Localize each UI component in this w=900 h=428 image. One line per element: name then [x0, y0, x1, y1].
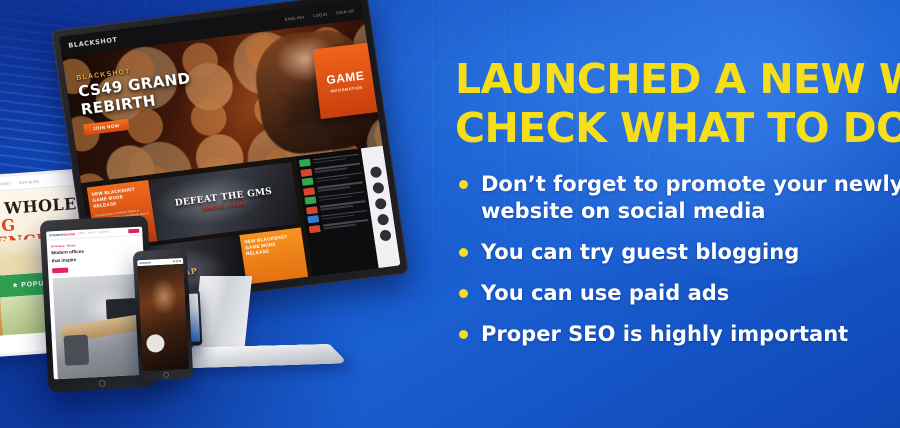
news-card1-overlay: DEFEAT THE GMS SPECIAL EVENT — [174, 187, 274, 216]
list-item-line-1: You can try guest blogging — [481, 240, 799, 264]
tablet-office-photo — [53, 274, 147, 380]
star-icon: ★ — [12, 281, 19, 289]
list-item: You can use paid ads — [455, 280, 900, 307]
bullet-icon — [459, 289, 468, 298]
device-mockup-group: HOME THE MENU COOKING CLASSES OUR BLOG L… — [0, 0, 450, 428]
home-button[interactable] — [98, 380, 105, 387]
blackshot-nav-item-login[interactable]: LOGIN — [313, 11, 328, 18]
tablet-cta-button[interactable] — [52, 268, 68, 274]
cooking-nav-item-classes[interactable]: COOKING CLASSES — [0, 181, 11, 188]
phone-hero-image — [137, 264, 188, 371]
list-item-line-1: You can use paid ads — [481, 281, 729, 305]
tablet-screen: INTERIORDESIGN HOME ABOUT PROJECTS Works… — [46, 227, 150, 380]
game-information-panel[interactable]: GAME INFORMATION — [313, 42, 378, 119]
youtube-icon[interactable] — [374, 198, 387, 210]
headline-line-2: CHECK WHAT TO DO NEXT — [455, 104, 900, 153]
promo-banner: HOME THE MENU COOKING CLASSES OUR BLOG L… — [0, 0, 900, 428]
menu-icon[interactable] — [173, 260, 181, 262]
tablet-nav-cta-button[interactable] — [128, 228, 139, 233]
sidebar-tag — [302, 178, 314, 186]
phone-play-badge[interactable] — [146, 334, 165, 353]
headline-line-1: LAUNCHED A NEW WEBSITE? — [455, 55, 900, 103]
twitter-icon[interactable] — [372, 182, 385, 194]
blackshot-nav-item-english[interactable]: ENGLISH — [284, 14, 304, 21]
tablet-nav-item-home[interactable]: HOME — [78, 233, 85, 235]
phone-mockup: INTERIOR — [133, 249, 194, 382]
sidebar-tag — [304, 196, 316, 204]
blackshot-nav-item-signup[interactable]: SIGN UP — [336, 8, 355, 15]
list-item-line-1: Don’t forget to promote your newly launc… — [481, 172, 900, 196]
tips-list: Don’t forget to promote your newly launc… — [455, 171, 900, 348]
list-item: Proper SEO is highly important — [455, 321, 900, 348]
home-button[interactable] — [163, 372, 169, 378]
list-item-line-2: website on social media — [481, 198, 900, 225]
bullet-icon — [459, 248, 468, 257]
blackshot-nav-items: ENGLISH LOGIN SIGN UP — [284, 8, 354, 22]
facebook-icon[interactable] — [369, 166, 382, 178]
tablet-site-logo[interactable]: INTERIORDESIGN — [49, 232, 75, 237]
list-item-line-1: Proper SEO is highly important — [481, 322, 848, 346]
phone-screen: INTERIOR — [137, 258, 189, 371]
list-item: You can try guest blogging — [455, 239, 900, 266]
tablet-nav-item-about[interactable]: ABOUT — [88, 232, 96, 234]
photo-chair — [64, 335, 90, 366]
cooking-nav-item-blog[interactable]: OUR BLOG — [19, 179, 40, 184]
sidebar-tag — [300, 168, 312, 176]
sidebar-tag — [309, 225, 321, 233]
page-title: LAUNCHED A NEW WEBSITE? CHECK WHAT TO DO… — [455, 55, 900, 153]
instagram-icon[interactable] — [379, 229, 392, 241]
bullet-icon — [459, 180, 468, 189]
sidebar-tag — [303, 187, 315, 195]
phone-site-logo[interactable]: INTERIOR — [139, 261, 151, 265]
tablet-nav-item-projects[interactable]: PROJECTS — [98, 231, 110, 234]
sidebar-tag — [307, 215, 319, 223]
list-item: Don’t forget to promote your newly launc… — [455, 171, 900, 225]
sidebar-tag — [306, 206, 318, 214]
bullet-icon — [459, 330, 468, 339]
discord-icon[interactable] — [376, 214, 389, 226]
sidebar-tag — [299, 159, 311, 167]
blackshot-logo[interactable]: BLACKSHOT — [68, 36, 118, 50]
banner-copy: LAUNCHED A NEW WEBSITE? CHECK WHAT TO DO… — [455, 55, 900, 362]
